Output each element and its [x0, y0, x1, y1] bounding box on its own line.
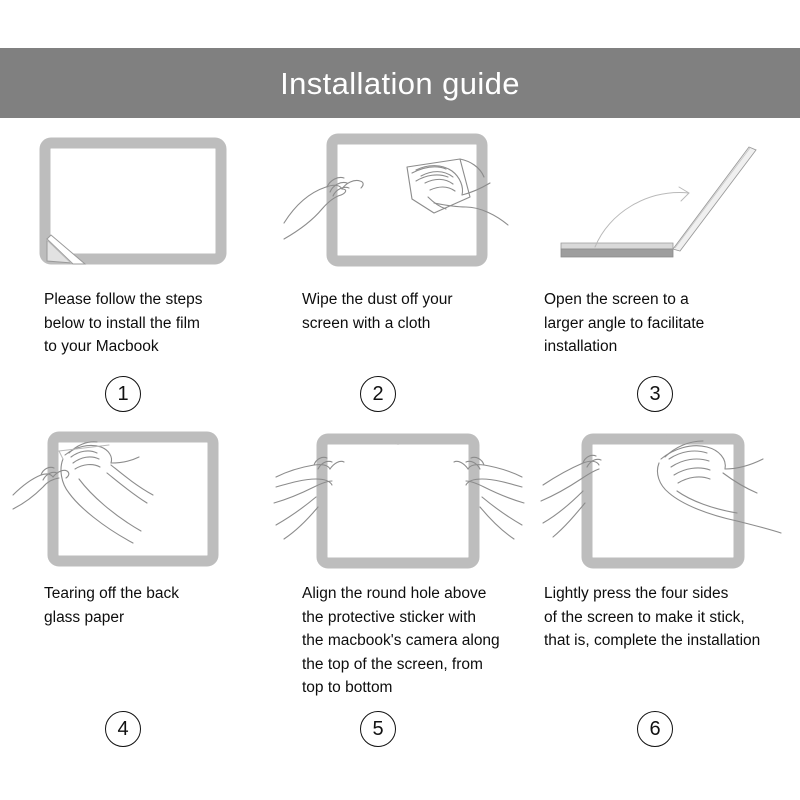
step-1-description: Please follow the steps below to install… [44, 288, 266, 359]
step-6-text-line: Lightly press the four sides [544, 582, 792, 606]
step-5-text-line: top to bottom [302, 676, 524, 700]
step-5-text-line: the top of the screen, from [302, 653, 524, 677]
step-3-description: Open the screen to a larger angle to fac… [544, 288, 800, 359]
step-1-text-line: Please follow the steps [44, 288, 258, 312]
step-4-number-badge: 4 [105, 711, 141, 747]
step-5: Align the round hole above the protectiv… [266, 426, 532, 756]
step-6-illustration [532, 426, 800, 576]
step-6-description: Lightly press the four sides of the scre… [544, 582, 800, 653]
step-6-text-line: that is, complete the installation [544, 629, 792, 653]
step-2-text-line: Wipe the dust off your [302, 288, 524, 312]
step-1: Please follow the steps below to install… [0, 126, 266, 426]
step-4-text-line: Tearing off the back [44, 582, 258, 606]
step-4-text-line: glass paper [44, 606, 258, 630]
page-title: Installation guide [280, 68, 520, 99]
step-2-description: Wipe the dust off your screen with a clo… [302, 288, 532, 335]
step-5-text-line: the protective sticker with [302, 606, 524, 630]
step-5-illustration [266, 426, 532, 576]
step-4: Tearing off the back glass paper 4 [0, 426, 266, 756]
step-6-text-line: of the screen to make it stick, [544, 606, 792, 630]
step-1-illustration [0, 126, 266, 276]
step-1-text-line: below to install the film [44, 312, 258, 336]
step-5-number-badge: 5 [360, 711, 396, 747]
step-2: Wipe the dust off your screen with a clo… [266, 126, 532, 426]
step-2-number-badge: 2 [360, 376, 396, 412]
step-3-text-line: installation [544, 335, 792, 359]
step-3-number-badge: 3 [637, 376, 673, 412]
step-5-text-line: Align the round hole above [302, 582, 524, 606]
step-5-text-line: the macbook's camera along [302, 629, 524, 653]
step-3-text-line: larger angle to facilitate [544, 312, 792, 336]
step-3: Open the screen to a larger angle to fac… [532, 126, 800, 426]
step-2-text-line: screen with a cloth [302, 312, 524, 336]
step-6: Lightly press the four sides of the scre… [532, 426, 800, 756]
step-3-text-line: Open the screen to a [544, 288, 792, 312]
installation-steps-grid: Please follow the steps below to install… [0, 126, 800, 786]
step-4-illustration [0, 426, 266, 576]
step-2-illustration [266, 126, 532, 276]
step-5-description: Align the round hole above the protectiv… [302, 582, 532, 700]
step-4-description: Tearing off the back glass paper [44, 582, 266, 629]
step-1-text-line: to your Macbook [44, 335, 258, 359]
page-header: Installation guide [0, 48, 800, 118]
step-1-number-badge: 1 [105, 376, 141, 412]
step-6-number-badge: 6 [637, 711, 673, 747]
step-3-illustration [532, 126, 800, 276]
